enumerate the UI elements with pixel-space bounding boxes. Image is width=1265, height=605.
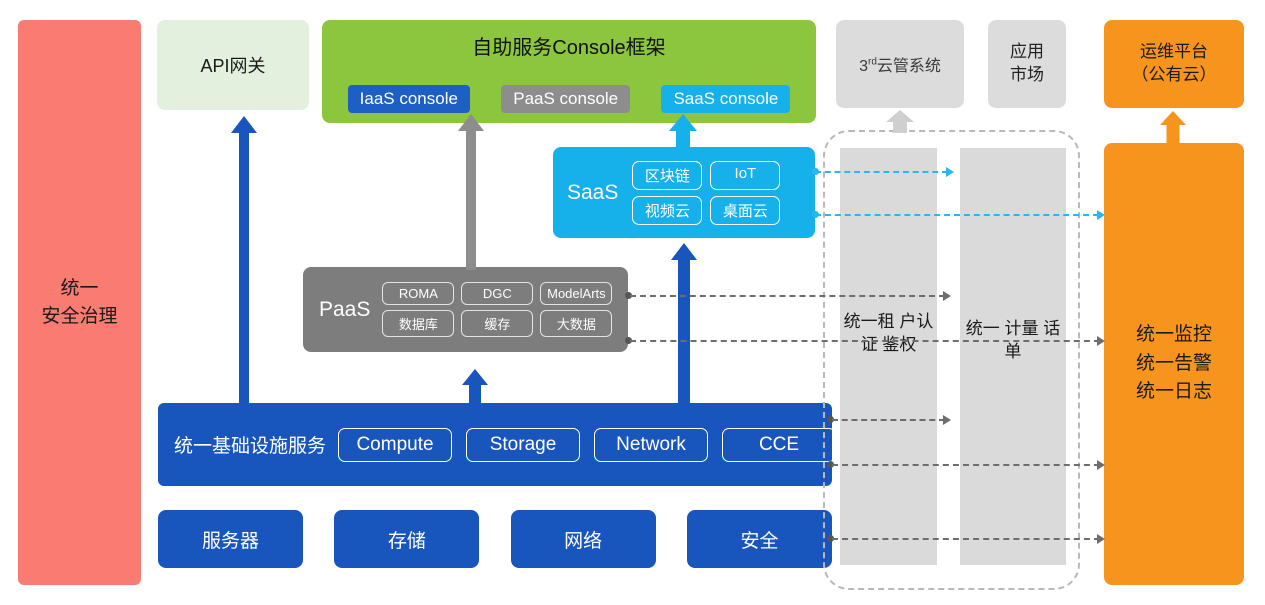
paas-item-modelarts[interactable]: ModelArts	[540, 282, 612, 305]
console-badge-group: IaaS console PaaS console SaaS console	[322, 85, 816, 113]
paas-item-roma[interactable]: ROMA	[382, 282, 454, 305]
third-party-suffix: 云管系统	[877, 58, 941, 75]
resource-storage-label: 存储	[388, 526, 426, 553]
connector-infra-to-ops	[832, 464, 1100, 466]
infra-item-compute[interactable]: Compute	[338, 428, 452, 462]
third-party-prefix: 3	[859, 58, 868, 75]
paas-layer-box: PaaS ROMA DGC ModelArts 数据库 缓存 大数据	[303, 267, 628, 352]
ops-platform-public-cloud-box[interactable]: 运维平台 （公有云）	[1104, 20, 1244, 108]
resource-security-box[interactable]: 安全	[687, 510, 832, 568]
api-gateway-box[interactable]: API网关	[157, 20, 309, 110]
arrow-infra-to-paas	[462, 369, 488, 405]
arrowhead-infra-1	[943, 415, 951, 425]
unified-monitoring-label: 统一监控 统一告警 统一日志	[1136, 321, 1212, 407]
resource-network-box[interactable]: 网络	[511, 510, 656, 568]
arrowhead-saas-2	[1097, 210, 1105, 220]
arrow-saas-to-console	[669, 114, 697, 150]
saas-item-iot[interactable]: IoT	[710, 161, 780, 190]
unified-infrastructure-service-bar: 统一基础设施服务 Compute Storage Network CCE	[158, 403, 832, 486]
unified-tenant-auth-label: 统一租 户认证 鉴权	[840, 311, 937, 357]
paas-item-bigdata[interactable]: 大数据	[540, 310, 612, 337]
paas-layer-label: PaaS	[319, 298, 370, 322]
unified-security-governance-panel: 统一 安全治理	[18, 20, 141, 585]
unified-infrastructure-label: 统一基础设施服务	[174, 431, 326, 458]
paas-service-grid: ROMA DGC ModelArts 数据库 缓存 大数据	[382, 282, 628, 337]
connector-infra-to-tenant-auth	[832, 419, 945, 421]
infra-item-storage[interactable]: Storage	[466, 428, 580, 462]
iaas-console-badge[interactable]: IaaS console	[348, 85, 470, 113]
arrowhead-infra-2	[1097, 460, 1105, 470]
resource-server-box[interactable]: 服务器	[158, 510, 303, 568]
saas-layer-label: SaaS	[567, 181, 618, 205]
unified-monitoring-panel: 统一监控 统一告警 统一日志	[1104, 143, 1244, 585]
console-framework-title: 自助服务Console框架	[322, 31, 816, 60]
resource-server-label: 服务器	[202, 526, 259, 553]
arrow-paas-to-console	[458, 114, 484, 270]
saas-service-grid: 区块链 IoT 视频云 桌面云	[632, 161, 815, 225]
ops-platform-label: 运维平台 （公有云）	[1132, 41, 1217, 87]
unified-security-governance-label: 统一 安全治理	[41, 275, 117, 330]
connector-paas-to-ops	[630, 340, 1100, 342]
api-gateway-label: API网关	[200, 52, 265, 78]
arrow-zone-to-ops-platform	[1160, 111, 1186, 143]
app-market-label: 应用 市场	[1010, 41, 1044, 87]
connector-saas-to-tenant-auth	[815, 171, 948, 173]
paas-item-database[interactable]: 数据库	[382, 310, 454, 337]
unified-metering-billing-bar: 统一 计量 话单	[960, 148, 1066, 565]
arrow-zone-to-third-party	[886, 110, 914, 133]
arrowhead-paas-1	[943, 291, 951, 301]
paas-item-cache[interactable]: 缓存	[461, 310, 533, 337]
saas-item-blockchain[interactable]: 区块链	[632, 161, 702, 190]
connector-saas-to-ops	[815, 214, 1099, 216]
infra-item-network[interactable]: Network	[594, 428, 708, 462]
arrow-infra-to-api-gateway	[231, 116, 257, 406]
resource-network-label: 网络	[564, 526, 602, 553]
third-party-cloud-mgmt-label: 3rd云管系统	[859, 52, 941, 76]
paas-console-badge[interactable]: PaaS console	[501, 85, 630, 113]
connector-paas-to-tenant-auth	[630, 295, 945, 297]
saas-item-video-cloud[interactable]: 视频云	[632, 196, 702, 225]
arrowhead-paas-2	[1097, 336, 1105, 346]
self-service-console-framework: 自助服务Console框架 IaaS console PaaS console …	[322, 20, 816, 123]
saas-item-desktop-cloud[interactable]: 桌面云	[710, 196, 780, 225]
saas-layer-box: SaaS 区块链 IoT 视频云 桌面云	[553, 147, 815, 238]
connector-bottom-to-ops	[832, 538, 1100, 540]
paas-item-dgc[interactable]: DGC	[461, 282, 533, 305]
arrowhead-saas-1	[946, 167, 954, 177]
arrow-infra-to-saas	[671, 243, 697, 406]
unified-tenant-auth-bar: 统一租 户认证 鉴权	[840, 148, 937, 565]
resource-security-label: 安全	[740, 526, 778, 553]
arrowhead-bottom	[1097, 534, 1105, 544]
third-party-superscript: rd	[868, 57, 877, 68]
physical-resource-row: 服务器 存储 网络 安全	[158, 510, 832, 568]
third-party-cloud-mgmt-box[interactable]: 3rd云管系统	[836, 20, 964, 108]
infra-item-cce[interactable]: CCE	[722, 428, 836, 462]
infrastructure-chip-group: Compute Storage Network CCE	[338, 428, 836, 462]
resource-storage-box[interactable]: 存储	[334, 510, 479, 568]
saas-console-badge[interactable]: SaaS console	[661, 85, 790, 113]
app-market-box[interactable]: 应用 市场	[988, 20, 1066, 108]
